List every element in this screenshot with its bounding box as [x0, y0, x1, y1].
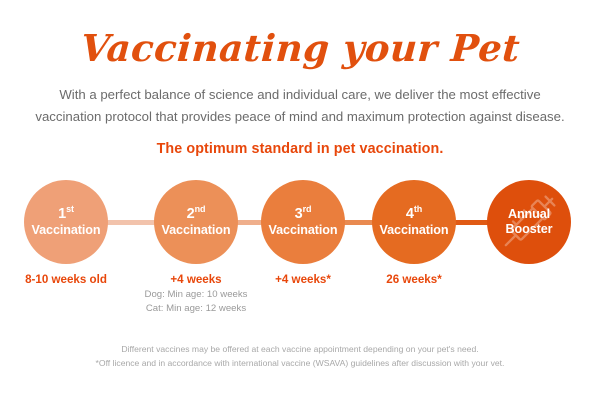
timeline-node-4th-vaccination[interactable]: 4th Vaccination: [372, 180, 456, 264]
timeline-node-3-text: 3rd Vaccination: [269, 206, 338, 238]
timeline-node-5-text: Annual Booster: [506, 207, 553, 237]
caption-4-main: 26 weeks*: [324, 272, 504, 288]
timeline-node-4-text: 4th Vaccination: [380, 206, 449, 238]
timeline-node-annual-booster[interactable]: Annual Booster: [487, 180, 571, 264]
timeline-node-1-suffix: st: [66, 204, 74, 214]
timeline-node-3-ordinal: 3rd: [269, 206, 338, 223]
timeline-node-3rd-vaccination[interactable]: 3rd Vaccination: [261, 180, 345, 264]
timeline-node-2-label: Vaccination: [162, 223, 231, 238]
timeline-node-2nd-vaccination[interactable]: 2nd Vaccination: [154, 180, 238, 264]
timeline-node-4-label: Vaccination: [380, 223, 449, 238]
intro-line-2: vaccination protocol that provides peace…: [20, 106, 580, 128]
timeline-node-1-label: Vaccination: [32, 223, 101, 238]
timeline-node-4-suffix: th: [414, 204, 422, 214]
timeline-connector-1-2: [104, 220, 158, 225]
timeline-node-5-label-line2: Booster: [506, 222, 553, 237]
caption-2-sub-cat: Cat: Min age: 12 weeks: [106, 302, 286, 316]
timeline-node-2-suffix: nd: [195, 204, 206, 214]
page-title: Vaccinating your Pet: [79, 26, 521, 70]
timeline-node-1-ordinal: 1st: [32, 206, 101, 223]
header: Vaccinating your Pet With a perfect bala…: [0, 0, 600, 157]
timeline-node-2-ordinal: 2nd: [162, 206, 231, 223]
footnote: Different vaccines may be offered at eac…: [0, 343, 600, 370]
footnote-line-2: *Off licence and in accordance with inte…: [0, 357, 600, 371]
timeline-captions: 8-10 weeks old +4 weeks Dog: Min age: 10…: [0, 272, 600, 332]
timeline-node-1st-vaccination[interactable]: 1st Vaccination: [24, 180, 108, 264]
timeline-connector-3-4: [341, 220, 376, 225]
caption-4th-vaccination: 26 weeks*: [324, 272, 504, 288]
intro-paragraph: With a perfect balance of science and in…: [20, 84, 580, 128]
tagline: The optimum standard in pet vaccination.: [0, 141, 600, 157]
timeline-node-3-suffix: rd: [303, 204, 312, 214]
intro-line-1: With a perfect balance of science and in…: [20, 84, 580, 106]
timeline-connector-4-5: [452, 220, 491, 225]
timeline-node-1-text: 1st Vaccination: [32, 206, 101, 238]
timeline-node-4-ordinal: 4th: [380, 206, 449, 223]
vaccination-timeline: 1st Vaccination 2nd Vaccination 3rd Vacc…: [0, 180, 600, 266]
timeline-node-3-label: Vaccination: [269, 223, 338, 238]
footnote-line-1: Different vaccines may be offered at eac…: [0, 343, 600, 357]
timeline-node-2-text: 2nd Vaccination: [162, 206, 231, 238]
caption-2-sub-dog: Dog: Min age: 10 weeks: [106, 288, 286, 302]
timeline-node-5-label-line1: Annual: [506, 207, 553, 222]
